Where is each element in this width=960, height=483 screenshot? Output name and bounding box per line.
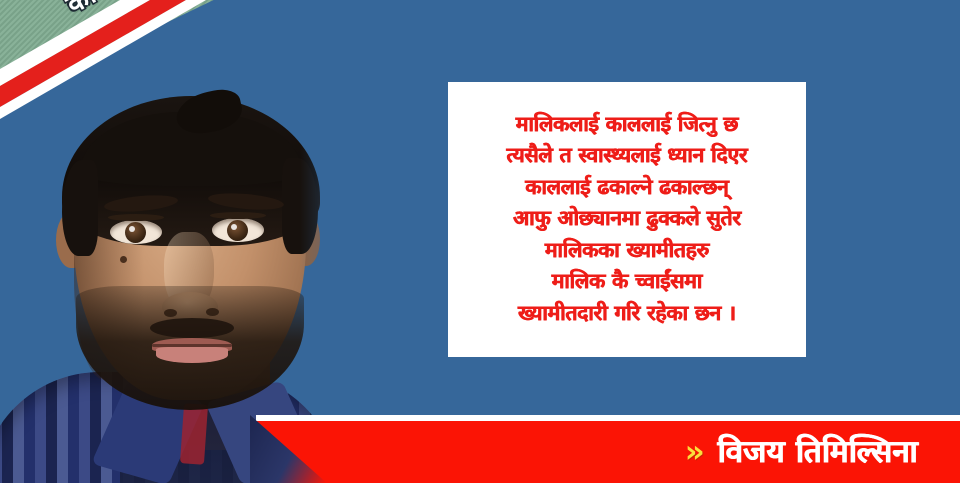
eye-left — [110, 220, 162, 244]
poem-line: मालिकका ख्यामीतहरु — [545, 240, 709, 261]
eyelid-left — [108, 214, 164, 221]
category-ribbon: कविता — [0, 0, 250, 130]
hair-side-left — [62, 160, 98, 256]
poem-line: मालिकलाई काललाई जित्नु छ — [516, 114, 738, 135]
poem-line: आफु ओछ्यानमा ढुक्कले सुतेर — [513, 208, 741, 229]
lower-lip — [156, 347, 228, 363]
cheek-mole — [120, 256, 127, 263]
iris-right — [227, 220, 248, 241]
poem-card: मालिकलाई काललाई जित्नु छ त्यसैले त स्वास… — [448, 82, 806, 357]
footer-content: » विजय तिमिल्सिना — [256, 421, 960, 483]
poem-line: काललाई ढकाल्ने ढकाल्छन् — [525, 177, 728, 198]
author-byline: विजय तिमिल्सिना — [718, 437, 918, 468]
poem-line: ख्यामीतदारी गरि रहेका छन । — [518, 303, 736, 324]
double-chevron-right-icon: » — [685, 437, 702, 468]
iris-left — [125, 222, 146, 243]
inner-garment — [180, 403, 208, 465]
eyelid-right — [210, 212, 266, 219]
poster-canvas: कविता मालिकलाई काललाई जित्नु छ त्यसैले त… — [0, 0, 960, 483]
eye-right — [212, 218, 264, 242]
moustache — [150, 318, 234, 338]
photo-edge-fade — [300, 0, 430, 483]
poem-line: त्यसैले त स्वास्थ्यलाई ध्यान दिएर — [507, 145, 748, 166]
mouth-line — [152, 344, 232, 347]
poem-line: मालिक कै च्वाईंसमा — [552, 271, 702, 292]
footer-band: » विजय तिमिल्सिना — [256, 421, 960, 483]
